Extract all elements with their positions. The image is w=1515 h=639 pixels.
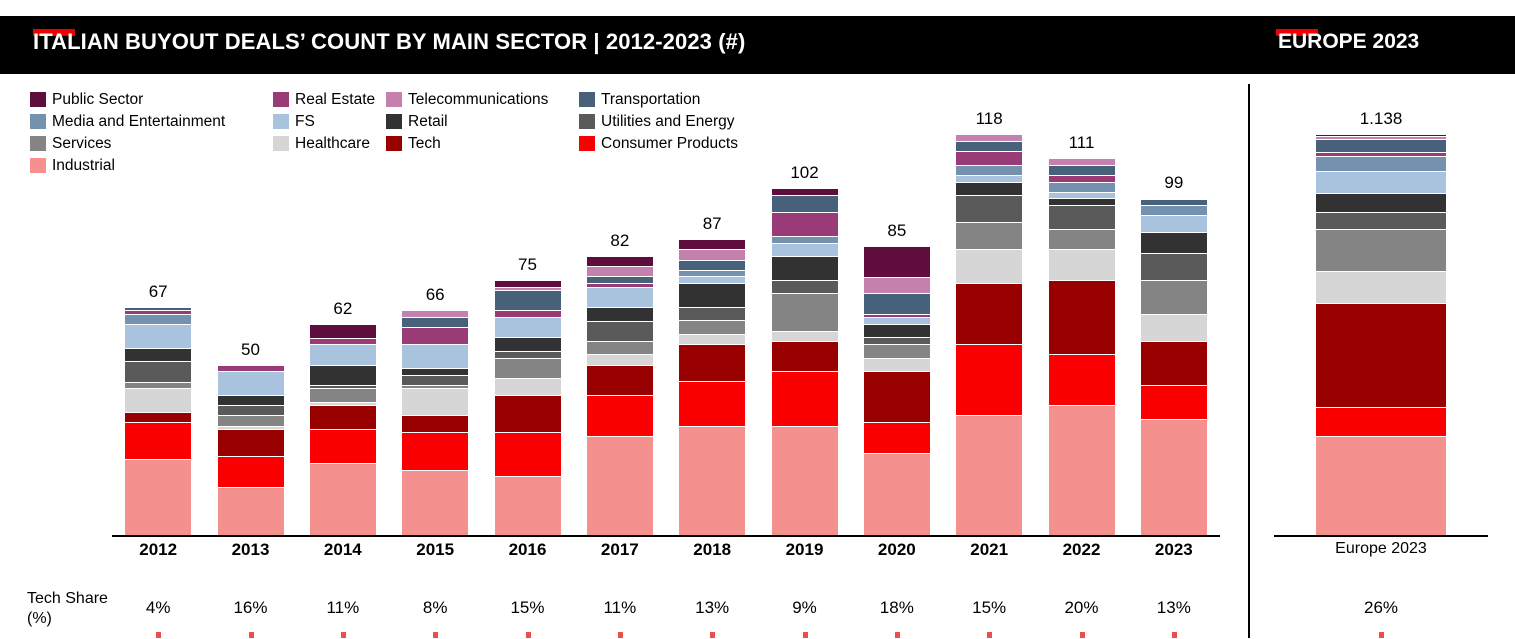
bar-segment[interactable]	[1316, 408, 1446, 436]
bar-segment[interactable]	[772, 427, 838, 535]
bar-total-label: 118	[976, 109, 1003, 129]
bar-segment[interactable]	[495, 396, 561, 433]
bar-segment[interactable]	[1316, 230, 1446, 272]
x-axis-line	[112, 535, 1220, 537]
bar-segment[interactable]	[679, 271, 745, 278]
bar-segment[interactable]	[1049, 193, 1115, 200]
bar-segment[interactable]	[679, 277, 745, 284]
tech-share-value: 13%	[666, 598, 758, 618]
bar-total-label: 67	[149, 282, 168, 302]
bar-segment[interactable]	[310, 345, 376, 365]
bar-segment[interactable]	[772, 189, 838, 196]
bar-segment[interactable]	[956, 196, 1022, 223]
bar-segment[interactable]	[587, 437, 653, 535]
legend-row: Public SectorReal EstateTelecommunicatio…	[30, 92, 820, 114]
footer-tick	[618, 632, 623, 638]
x-axis-tick-label: 2014	[297, 540, 389, 560]
bar-segment[interactable]	[218, 406, 284, 416]
bar-2021[interactable]	[956, 135, 1022, 535]
bar-segment[interactable]	[864, 359, 930, 373]
bar-segment[interactable]	[772, 237, 838, 244]
x-axis-tick-label: 2019	[758, 540, 850, 560]
tech-share-value: 15%	[943, 598, 1035, 618]
bar-segment[interactable]	[679, 335, 745, 345]
bar-segment[interactable]	[679, 284, 745, 308]
bar-segment[interactable]	[1141, 254, 1207, 281]
bar-segment[interactable]	[772, 196, 838, 213]
bar-segment[interactable]	[679, 345, 745, 382]
bar-segment[interactable]	[1141, 206, 1207, 216]
bar-segment[interactable]	[310, 366, 376, 386]
bar-segment[interactable]	[772, 294, 838, 331]
footer-tick	[803, 632, 808, 638]
bar-segment[interactable]	[587, 322, 653, 342]
footer-tick	[156, 632, 161, 638]
bar-segment[interactable]	[402, 345, 468, 369]
bar-total-label: 62	[333, 299, 352, 319]
legend-swatch-icon	[386, 92, 402, 107]
bar-segment[interactable]	[1049, 281, 1115, 356]
legend-item[interactable]: Real Estate	[273, 92, 375, 108]
bar-segment[interactable]	[310, 339, 376, 346]
bar-segment[interactable]	[402, 376, 468, 386]
bar-segment[interactable]	[495, 359, 561, 379]
bar-total-label: 87	[703, 214, 722, 234]
bar-segment[interactable]	[587, 342, 653, 356]
bar-total-label: 66	[426, 285, 445, 305]
europe-tech-share-value: 26%	[1274, 598, 1488, 618]
x-axis-tick-label: 2017	[574, 540, 666, 560]
tech-share-value: 11%	[574, 598, 666, 618]
legend-swatch-icon	[579, 92, 595, 107]
bar-segment[interactable]	[679, 427, 745, 535]
bar-segment[interactable]	[310, 430, 376, 464]
bar-2012[interactable]	[125, 308, 191, 535]
bar-segment[interactable]	[772, 372, 838, 426]
bar-segment[interactable]	[125, 362, 191, 382]
bar-segment[interactable]	[402, 389, 468, 416]
bar-segment[interactable]	[495, 281, 561, 288]
bar-segment[interactable]	[218, 488, 284, 535]
page-title: ITALIAN BUYOUT DEALS’ COUNT BY MAIN SECT…	[33, 29, 745, 55]
bar-segment[interactable]	[310, 325, 376, 339]
bar-segment[interactable]	[864, 454, 930, 535]
bar-segment[interactable]	[125, 423, 191, 460]
bar-segment[interactable]	[864, 325, 930, 339]
tech-share-value: 8%	[389, 598, 481, 618]
tech-share-value: 9%	[758, 598, 850, 618]
bar-total-label: 75	[518, 255, 537, 275]
bar-segment[interactable]	[402, 318, 468, 328]
bar-segment[interactable]	[1049, 166, 1115, 176]
legend-item-label: Telecommunications	[408, 92, 548, 108]
bar-segment[interactable]	[956, 176, 1022, 183]
europe-bar-total-label: 1.138	[1360, 109, 1403, 129]
bar-2015[interactable]	[402, 311, 468, 535]
tech-share-values: 4%16%11%8%15%11%13%9%18%15%20%13%	[112, 598, 1220, 622]
bar-segment[interactable]	[1049, 199, 1115, 206]
x-axis-tick-label: 2013	[204, 540, 296, 560]
bar-segment[interactable]	[495, 318, 561, 338]
x-axis-tick-label: 2022	[1035, 540, 1127, 560]
bar-segment[interactable]	[772, 281, 838, 295]
bar-segment[interactable]	[772, 244, 838, 258]
footer-tick	[1379, 632, 1384, 638]
europe-stacked-bar-plot: 1.138	[1274, 120, 1488, 535]
bar-segment[interactable]	[1141, 315, 1207, 342]
bar-segment[interactable]	[495, 433, 561, 477]
bar-segment[interactable]	[402, 471, 468, 535]
bar-2018[interactable]	[679, 240, 745, 535]
bar-segment[interactable]	[587, 288, 653, 308]
bar-segment[interactable]	[956, 152, 1022, 166]
x-axis-tick-label: 2020	[851, 540, 943, 560]
bar-europe-2023[interactable]	[1316, 135, 1446, 535]
legend-swatch-icon	[30, 92, 46, 107]
bar-segment[interactable]	[587, 277, 653, 284]
bar-2019[interactable]	[772, 189, 838, 535]
footer-tick	[526, 632, 531, 638]
tech-share-value: 15%	[481, 598, 573, 618]
bar-segment[interactable]	[679, 240, 745, 250]
bar-2022[interactable]	[1049, 159, 1115, 535]
bar-segment[interactable]	[495, 379, 561, 396]
bar-segment[interactable]	[218, 372, 284, 396]
legend-item-label: Industrial	[52, 158, 115, 174]
bar-segment[interactable]	[1049, 230, 1115, 250]
footer-tick	[895, 632, 900, 638]
bar-segment[interactable]	[864, 278, 930, 295]
bar-segment[interactable]	[587, 267, 653, 277]
legend-item[interactable]: Services	[30, 136, 111, 152]
bar-segment[interactable]	[1141, 233, 1207, 253]
bar-segment[interactable]	[956, 183, 1022, 197]
bar-2017[interactable]	[587, 257, 653, 535]
bar-segment[interactable]	[125, 460, 191, 535]
bar-segment[interactable]	[402, 328, 468, 345]
footer-tick	[1080, 632, 1085, 638]
legend-swatch-icon	[30, 114, 46, 129]
bar-segment[interactable]	[956, 166, 1022, 176]
tech-share-label-line1: Tech Share	[27, 589, 117, 609]
x-axis-tick-label: 2016	[481, 540, 573, 560]
bar-segment[interactable]	[218, 416, 284, 426]
bar-segment[interactable]	[1049, 250, 1115, 281]
tech-share-value: 13%	[1128, 598, 1220, 618]
bar-segment[interactable]	[772, 257, 838, 281]
bar-total-label: 102	[790, 163, 818, 183]
tech-share-value: 18%	[851, 598, 943, 618]
bar-segment[interactable]	[956, 142, 1022, 152]
europe-x-axis-line	[1274, 535, 1488, 537]
x-axis-tick-label: 2015	[389, 540, 481, 560]
x-axis-tick-label: 2023	[1128, 540, 1220, 560]
bar-segment[interactable]	[402, 369, 468, 376]
bar-segment[interactable]	[1316, 437, 1446, 535]
bar-segment[interactable]	[218, 366, 284, 373]
bar-segment[interactable]	[956, 250, 1022, 284]
footer-tick	[249, 632, 254, 638]
bar-total-label: 82	[610, 231, 629, 251]
bar-segment[interactable]	[1316, 172, 1446, 195]
footer-tick	[987, 632, 992, 638]
legend-item-label: Transportation	[601, 92, 700, 108]
bar-segment[interactable]	[679, 261, 745, 271]
panel-divider	[1248, 84, 1250, 638]
bar-2023[interactable]	[1141, 199, 1207, 535]
footer-tick	[433, 632, 438, 638]
footer-tick	[710, 632, 715, 638]
bar-segment[interactable]	[1141, 386, 1207, 420]
bar-segment[interactable]	[1141, 281, 1207, 315]
bar-segment[interactable]	[125, 389, 191, 413]
x-axis-tick-label: 2018	[666, 540, 758, 560]
bar-segment[interactable]	[495, 338, 561, 352]
bar-segment[interactable]	[864, 372, 930, 423]
bar-2016[interactable]	[495, 281, 561, 535]
chart-page: ITALIAN BUYOUT DEALS’ COUNT BY MAIN SECT…	[0, 0, 1515, 639]
bar-segment[interactable]	[125, 315, 191, 325]
tech-share-value: 4%	[112, 598, 204, 618]
bar-segment[interactable]	[772, 213, 838, 237]
footer-tick	[341, 632, 346, 638]
bar-segment[interactable]	[495, 291, 561, 311]
bar-segment[interactable]	[864, 247, 930, 278]
legend-item-label: Services	[52, 136, 111, 152]
bar-segment[interactable]	[402, 433, 468, 470]
bar-segment[interactable]	[956, 223, 1022, 250]
bar-segment[interactable]	[125, 383, 191, 390]
bar-segment[interactable]	[956, 135, 1022, 142]
footer-tick	[1172, 632, 1177, 638]
bar-2014[interactable]	[310, 325, 376, 535]
bar-total-label: 85	[887, 221, 906, 241]
bar-segment[interactable]	[864, 338, 930, 345]
bar-segment[interactable]	[956, 416, 1022, 535]
bar-segment[interactable]	[956, 345, 1022, 416]
bar-segment[interactable]	[679, 250, 745, 260]
tech-share-row-label: Tech Share (%)	[27, 589, 117, 629]
bar-segment[interactable]	[772, 342, 838, 373]
bar-segment[interactable]	[1049, 206, 1115, 230]
tech-share-label-line2: (%)	[27, 609, 117, 629]
bar-segment[interactable]	[864, 345, 930, 359]
bar-segment[interactable]	[864, 423, 930, 454]
legend-item[interactable]: Industrial	[30, 158, 115, 174]
bar-2020[interactable]	[864, 247, 930, 535]
x-axis-tick-label: 2021	[943, 540, 1035, 560]
bar-segment[interactable]	[125, 325, 191, 349]
bar-segment[interactable]	[1316, 304, 1446, 408]
bar-segment[interactable]	[495, 311, 561, 318]
bar-segment[interactable]	[402, 311, 468, 318]
bar-segment[interactable]	[495, 352, 561, 359]
bar-segment[interactable]	[587, 366, 653, 397]
bar-segment[interactable]	[125, 349, 191, 363]
stacked-bar-plot: 675062667582871028511811199	[112, 120, 1220, 535]
europe-axis-label: Europe 2023	[1274, 540, 1488, 558]
bar-segment[interactable]	[1049, 406, 1115, 535]
bar-segment[interactable]	[1049, 355, 1115, 406]
bar-segment[interactable]	[218, 396, 284, 406]
bar-segment[interactable]	[679, 321, 745, 335]
tech-share-value: 20%	[1035, 598, 1127, 618]
bar-segment[interactable]	[679, 382, 745, 426]
bar-segment[interactable]	[1049, 176, 1115, 183]
bar-segment[interactable]	[310, 389, 376, 403]
bar-segment[interactable]	[679, 308, 745, 322]
header-right-title: EUROPE 2023	[1278, 30, 1419, 54]
legend-swatch-icon	[30, 158, 46, 173]
bar-segment[interactable]	[310, 464, 376, 535]
bar-segment[interactable]	[1141, 216, 1207, 233]
bar-segment[interactable]	[218, 430, 284, 457]
bar-segment[interactable]	[864, 318, 930, 325]
bar-segment[interactable]	[495, 477, 561, 535]
legend-item[interactable]: Transportation	[579, 92, 700, 108]
x-axis-tick-label: 2012	[112, 540, 204, 560]
bar-segment[interactable]	[956, 284, 1022, 345]
bar-total-label: 111	[1069, 133, 1095, 153]
bar-segment[interactable]	[587, 308, 653, 322]
legend-item-label: Public Sector	[52, 92, 143, 108]
bar-segment[interactable]	[1316, 213, 1446, 231]
tech-share-value: 11%	[297, 598, 389, 618]
bar-segment[interactable]	[1141, 342, 1207, 386]
bar-segment[interactable]	[402, 416, 468, 433]
bar-total-label: 50	[241, 340, 260, 360]
bar-segment[interactable]	[1049, 183, 1115, 193]
legend-item[interactable]: Telecommunications	[386, 92, 548, 108]
bar-segment[interactable]	[1049, 159, 1115, 166]
x-axis-labels: 2012201320142015201620172018201920202021…	[112, 540, 1220, 566]
bar-segment[interactable]	[1141, 200, 1207, 207]
bar-total-label: 99	[1164, 173, 1183, 193]
legend-item[interactable]: Public Sector	[30, 92, 143, 108]
bar-segment[interactable]	[310, 406, 376, 430]
bar-segment[interactable]	[1316, 157, 1446, 172]
bar-segment[interactable]	[587, 257, 653, 267]
legend-swatch-icon	[273, 92, 289, 107]
bar-segment[interactable]	[1316, 272, 1446, 304]
bar-segment[interactable]	[864, 294, 930, 314]
bar-segment[interactable]	[772, 332, 838, 342]
legend-swatch-icon	[30, 136, 46, 151]
bar-segment[interactable]	[1141, 420, 1207, 535]
bar-2013[interactable]	[218, 366, 284, 535]
bar-segment[interactable]	[587, 355, 653, 365]
bar-segment[interactable]	[587, 396, 653, 437]
bar-segment[interactable]	[125, 413, 191, 423]
bar-segment[interactable]	[1316, 140, 1446, 152]
bar-segment[interactable]	[1316, 194, 1446, 212]
legend-item-label: Real Estate	[295, 92, 375, 108]
bar-segment[interactable]	[218, 457, 284, 488]
tech-share-value: 16%	[204, 598, 296, 618]
